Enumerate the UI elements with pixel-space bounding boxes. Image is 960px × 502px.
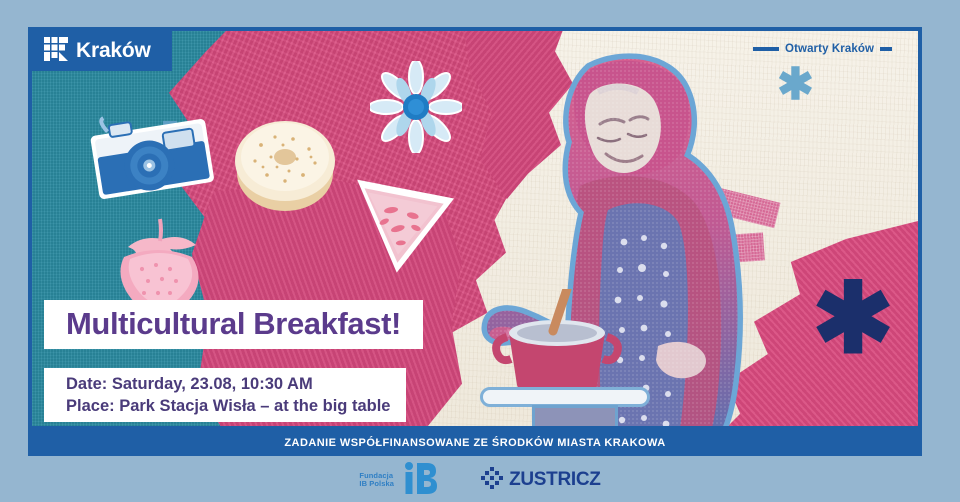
table-edge-shape [480, 387, 650, 407]
event-date-line: Date: Saturday, 23.08, 10:30 AM [66, 374, 390, 396]
page-title: Multicultural Breakfast! [66, 308, 401, 339]
poster-canvas: ✱ ✱ ✱ [0, 0, 960, 502]
tagline-dash-left [753, 47, 779, 51]
zustricz-logo[interactable]: ZUSTRICZ [479, 465, 601, 496]
ib-foundation-logo-icon [399, 461, 439, 500]
watermelon-slice-icon [340, 167, 465, 285]
event-place-line: Place: Park Stacja Wisła – at the big ta… [66, 396, 390, 418]
sponsor-logos: Fundacja IB Polska [0, 458, 960, 502]
event-details-box: Date: Saturday, 23.08, 10:30 AM Place: P… [44, 368, 406, 422]
poster-frame: ✱ ✱ ✱ [28, 27, 922, 430]
krakow-logo-bar[interactable]: Kraków [32, 31, 172, 71]
tagline-dash-right [880, 47, 892, 51]
zustricz-wordmark: ZUSTRICZ [509, 469, 601, 491]
blue-daisy-flower-icon [370, 61, 462, 153]
vintage-camera-icon [81, 100, 222, 215]
funding-banner: ZADANIE WSPÓŁFINANSOWANE ZE ŚRODKÓW MIAS… [28, 430, 922, 456]
funding-banner-text: ZADANIE WSPÓŁFINANSOWANE ZE ŚRODKÓW MIAS… [284, 437, 665, 449]
fundacja-ib-polska-logo[interactable]: Fundacja IB Polska [359, 461, 439, 500]
fundacja-line-2: IB Polska [359, 480, 394, 488]
asterisk-icon: ✱ [812, 269, 894, 367]
otwarty-krakow-tagline: Otwarty Kraków [753, 43, 892, 55]
donut-icon [227, 111, 343, 215]
stove-base-shape [532, 405, 618, 430]
krakow-logo-label: Kraków [76, 39, 151, 63]
fundacja-ib-polska-label: Fundacja IB Polska [359, 472, 394, 489]
cooking-pot-icon [487, 289, 627, 399]
headline-box: Multicultural Breakfast! [44, 300, 423, 349]
tagline-label: Otwarty Kraków [785, 43, 874, 55]
krakow-grid-logo-icon [44, 37, 68, 66]
zustricz-ornament-icon [479, 465, 505, 496]
